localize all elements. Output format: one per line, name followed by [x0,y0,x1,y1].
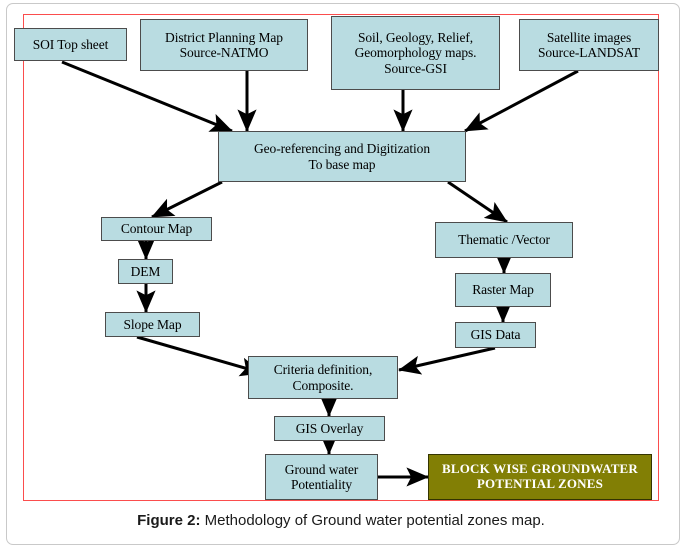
node-soi: SOI Top sheet [14,28,127,61]
node-geo: Geo-referencing and Digitization To base… [218,131,466,182]
node-soil: Soil, Geology, Relief, Geomorphology map… [331,16,500,90]
node-contour: Contour Map [101,217,212,241]
figure-caption: Figure 2: Methodology of Ground water po… [23,512,659,529]
node-dpm: District Planning Map Source-NATMO [140,19,308,71]
figure-container: SOI Top sheetDistrict Planning Map Sourc… [0,0,686,555]
node-thematic: Thematic /Vector [435,222,573,258]
node-gisdata: GIS Data [455,322,536,348]
figure-caption-label: Figure 2: [137,512,200,529]
node-slope: Slope Map [105,312,200,337]
node-dem: DEM [118,259,173,284]
node-zones: BLOCK WISE GROUNDWATER POTENTIAL ZONES [428,454,652,500]
figure-caption-text: Methodology of Ground water potential zo… [200,512,544,529]
node-criteria: Criteria definition, Composite. [248,356,398,399]
node-overlay: GIS Overlay [274,416,385,441]
node-sat: Satellite images Source-LANDSAT [519,19,659,71]
node-gwpot: Ground water Potentiality [265,454,378,500]
node-raster: Raster Map [455,273,551,307]
